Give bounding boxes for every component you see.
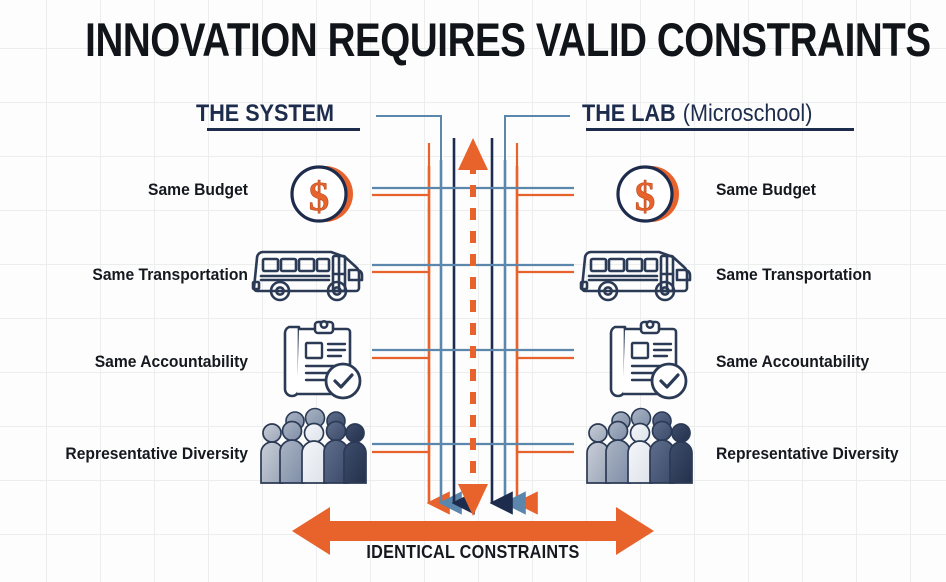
school-bus-icon-right bbox=[578, 233, 698, 317]
svg-text:$: $ bbox=[635, 173, 656, 219]
group-of-people-icon-right bbox=[580, 404, 700, 488]
school-bus-icon bbox=[250, 233, 370, 317]
infographic-canvas: INNOVATION REQUIRES VALID CONSTRAINTS TH… bbox=[0, 0, 946, 582]
clipboard-check-icon-graphic bbox=[279, 319, 365, 401]
column-header-system: THE SYSTEM bbox=[196, 100, 334, 128]
dollar-coin-icon-graphic: $ bbox=[285, 157, 359, 231]
row-label-left-0: Same Budget bbox=[75, 180, 248, 200]
row-label-right-3: Representative Diversity bbox=[716, 444, 920, 464]
column-header-lab-underline bbox=[586, 128, 854, 131]
row-label-left-1: Same Transportation bbox=[64, 265, 248, 285]
row-label-left-2: Same Accountability bbox=[64, 352, 248, 372]
column-header-lab: THE LAB(Microschool) bbox=[582, 100, 812, 128]
svg-text:$: $ bbox=[309, 173, 330, 219]
center-dashed-arrow bbox=[458, 138, 488, 516]
group-of-people-icon-graphic bbox=[258, 407, 370, 485]
identical-constraints-caption: IDENTICAL CONSTRAINTS bbox=[47, 542, 898, 563]
column-header-lab-subtitle: (Microschool) bbox=[683, 100, 813, 127]
group-of-people-icon bbox=[254, 404, 374, 488]
column-header-system-underline bbox=[207, 128, 360, 131]
page-title: INNOVATION REQUIRES VALID CONSTRAINTS bbox=[85, 14, 861, 66]
dollar-coin-icon: $ bbox=[262, 152, 382, 236]
school-bus-icon-graphic bbox=[251, 244, 369, 306]
connector-wiring bbox=[0, 0, 946, 582]
column-header-system-label: THE SYSTEM bbox=[196, 100, 334, 127]
clipboard-check-icon bbox=[262, 318, 382, 402]
dollar-coin-icon-right: $ bbox=[588, 152, 708, 236]
clipboard-check-icon-right bbox=[588, 318, 708, 402]
row-label-right-1: Same Transportation bbox=[716, 265, 909, 285]
row-label-right-0: Same Budget bbox=[716, 180, 900, 200]
column-header-lab-label: THE LAB bbox=[582, 100, 676, 127]
dollar-coin-icon-graphic-right: $ bbox=[611, 157, 685, 231]
school-bus-icon-graphic-right bbox=[579, 244, 697, 306]
group-of-people-icon-graphic-right bbox=[584, 407, 696, 485]
clipboard-check-icon-graphic-right bbox=[605, 319, 691, 401]
row-label-left-3: Representative Diversity bbox=[44, 444, 248, 464]
row-label-right-2: Same Accountability bbox=[716, 352, 909, 372]
